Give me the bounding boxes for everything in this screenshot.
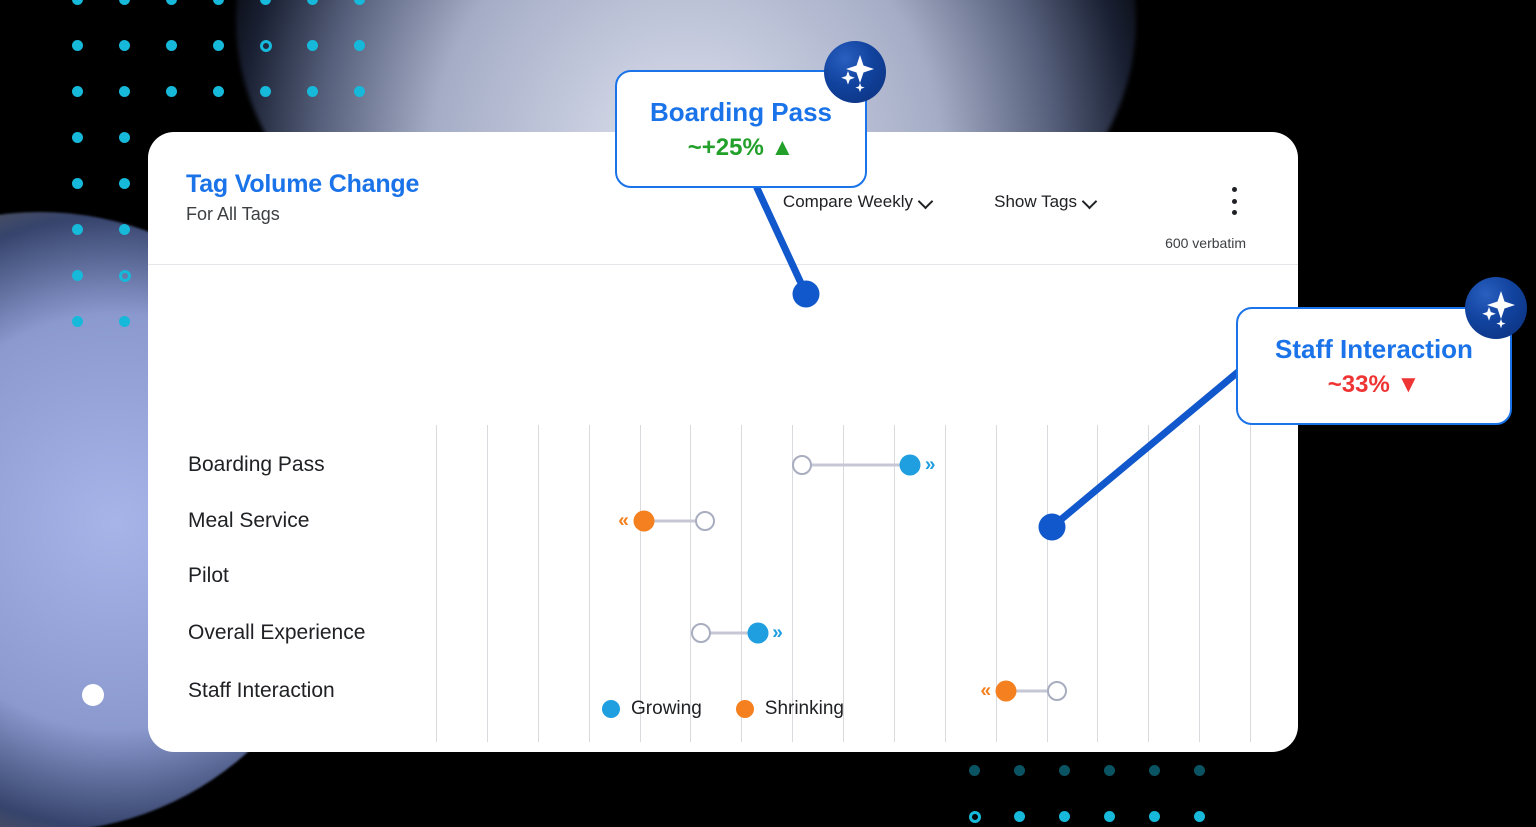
- chart-gridline: [894, 425, 895, 742]
- ai-sparkle-icon[interactable]: [1465, 277, 1527, 339]
- legend-swatch-icon: [736, 700, 754, 718]
- decorative-dot: [72, 0, 83, 5]
- ai-sparkle-icon[interactable]: [824, 41, 886, 103]
- decorative-dot: [119, 316, 130, 327]
- decorative-dot: [166, 86, 177, 97]
- chart-legend: GrowingShrinking: [148, 698, 1298, 720]
- category-label: Pilot: [188, 564, 229, 588]
- screenshot-root: Tag Volume Change For All Tags Compare W…: [0, 0, 1536, 827]
- verbatim-count: 600 verbatim: [1165, 235, 1246, 251]
- compare-weekly-label: Compare Weekly: [783, 192, 913, 212]
- decorative-dot: [72, 178, 83, 189]
- show-tags-dropdown[interactable]: Show Tags: [994, 192, 1096, 212]
- decorative-dot: [260, 86, 271, 97]
- decorative-dot: [166, 40, 177, 51]
- category-label: Boarding Pass: [188, 453, 325, 477]
- page-title: Tag Volume Change: [186, 170, 419, 199]
- callout-title: Boarding Pass: [650, 97, 832, 128]
- decorative-dot: [1104, 811, 1115, 822]
- decorative-dot: [260, 0, 271, 5]
- sparkle-glyph: [1465, 277, 1527, 339]
- chart-gridline: [1148, 425, 1149, 742]
- decorative-dot: [119, 132, 130, 143]
- chart-gridline: [436, 425, 437, 742]
- decorative-dot: [119, 178, 130, 189]
- chevron-down-icon: [1084, 196, 1096, 208]
- decorative-dot: [1149, 811, 1160, 822]
- decorative-dot: [166, 0, 177, 5]
- decorative-dot: [1059, 811, 1070, 822]
- decorative-dot: [969, 811, 981, 823]
- chart-gridline: [1199, 425, 1200, 742]
- decorative-dot: [72, 316, 83, 327]
- chart-gridline: [640, 425, 641, 742]
- decorative-dot: [72, 40, 83, 51]
- callout-value: ~+25% ▲: [688, 134, 795, 162]
- chart-gridline: [589, 425, 590, 742]
- chart-gridline: [538, 425, 539, 742]
- decorative-dot: [969, 765, 980, 776]
- decorative-dot: [1194, 811, 1205, 822]
- legend-swatch-icon: [602, 700, 620, 718]
- decorative-dot: [1104, 765, 1115, 776]
- decorative-dot: [1059, 765, 1070, 776]
- decorative-dot: [307, 0, 318, 5]
- category-label: Overall Experience: [188, 621, 365, 645]
- decorative-dot: [72, 132, 83, 143]
- show-tags-label: Show Tags: [994, 192, 1077, 212]
- previous-value-marker[interactable]: [792, 455, 812, 475]
- decorative-dot: [354, 0, 365, 5]
- shrinking-chevron-icon: «: [618, 512, 629, 531]
- legend-label: Shrinking: [765, 698, 844, 720]
- legend-label: Growing: [631, 698, 702, 720]
- chart-gridline: [487, 425, 488, 742]
- dumbbell-connector: [802, 464, 910, 467]
- decorative-dot: [119, 0, 130, 5]
- card-subtitle: For All Tags: [186, 204, 280, 225]
- decorative-dot: [354, 86, 365, 97]
- chart-gridline: [1097, 425, 1098, 742]
- chevron-down-icon: [920, 196, 932, 208]
- tag-volume-change-card: Tag Volume Change For All Tags Compare W…: [148, 132, 1298, 752]
- decorative-dot: [72, 224, 83, 235]
- decorative-dot: [213, 40, 224, 51]
- decorative-dot: [213, 86, 224, 97]
- chart-gridline: [690, 425, 691, 742]
- decorative-dot: [72, 86, 83, 97]
- legend-item[interactable]: Growing: [602, 698, 702, 720]
- decorative-dot: [1194, 765, 1205, 776]
- decorative-dot: [72, 270, 83, 281]
- decorative-dot: [1149, 765, 1160, 776]
- callout-title: Staff Interaction: [1275, 334, 1473, 365]
- compare-weekly-dropdown[interactable]: Compare Weekly: [783, 192, 932, 212]
- white-dot-accent: [82, 684, 104, 706]
- current-value-marker[interactable]: [747, 623, 768, 644]
- legend-item[interactable]: Shrinking: [736, 698, 844, 720]
- category-label: Meal Service: [188, 509, 309, 533]
- growing-chevron-icon: »: [925, 456, 936, 475]
- current-value-marker[interactable]: [900, 455, 921, 476]
- callout-value: ~33% ▼: [1328, 371, 1420, 399]
- sparkle-glyph: [824, 41, 886, 103]
- chart-gridline: [843, 425, 844, 742]
- more-vertical-icon[interactable]: [1222, 184, 1246, 218]
- growing-chevron-icon: »: [772, 624, 783, 643]
- chart-gridline: [945, 425, 946, 742]
- current-value-marker[interactable]: [633, 511, 654, 532]
- decorative-dot: [307, 40, 318, 51]
- chart-gridline: [792, 425, 793, 742]
- decorative-dot: [354, 40, 365, 51]
- dumbbell-chart: Boarding Pass»Meal Service«PilotOverall …: [148, 265, 1298, 752]
- decorative-dot: [119, 270, 131, 282]
- decorative-dot: [260, 40, 272, 52]
- decorative-dot: [1014, 765, 1025, 776]
- decorative-dot: [213, 0, 224, 5]
- callout-anchor-staff: [1039, 514, 1066, 541]
- decorative-dot: [119, 86, 130, 97]
- chart-gridline: [1250, 425, 1251, 742]
- previous-value-marker[interactable]: [695, 511, 715, 531]
- previous-value-marker[interactable]: [691, 623, 711, 643]
- decorative-dot: [307, 86, 318, 97]
- decorative-dot: [119, 224, 130, 235]
- decorative-dot: [1014, 811, 1025, 822]
- callout-anchor-boarding: [793, 281, 820, 308]
- chart-gridline: [741, 425, 742, 742]
- decorative-dot: [119, 40, 130, 51]
